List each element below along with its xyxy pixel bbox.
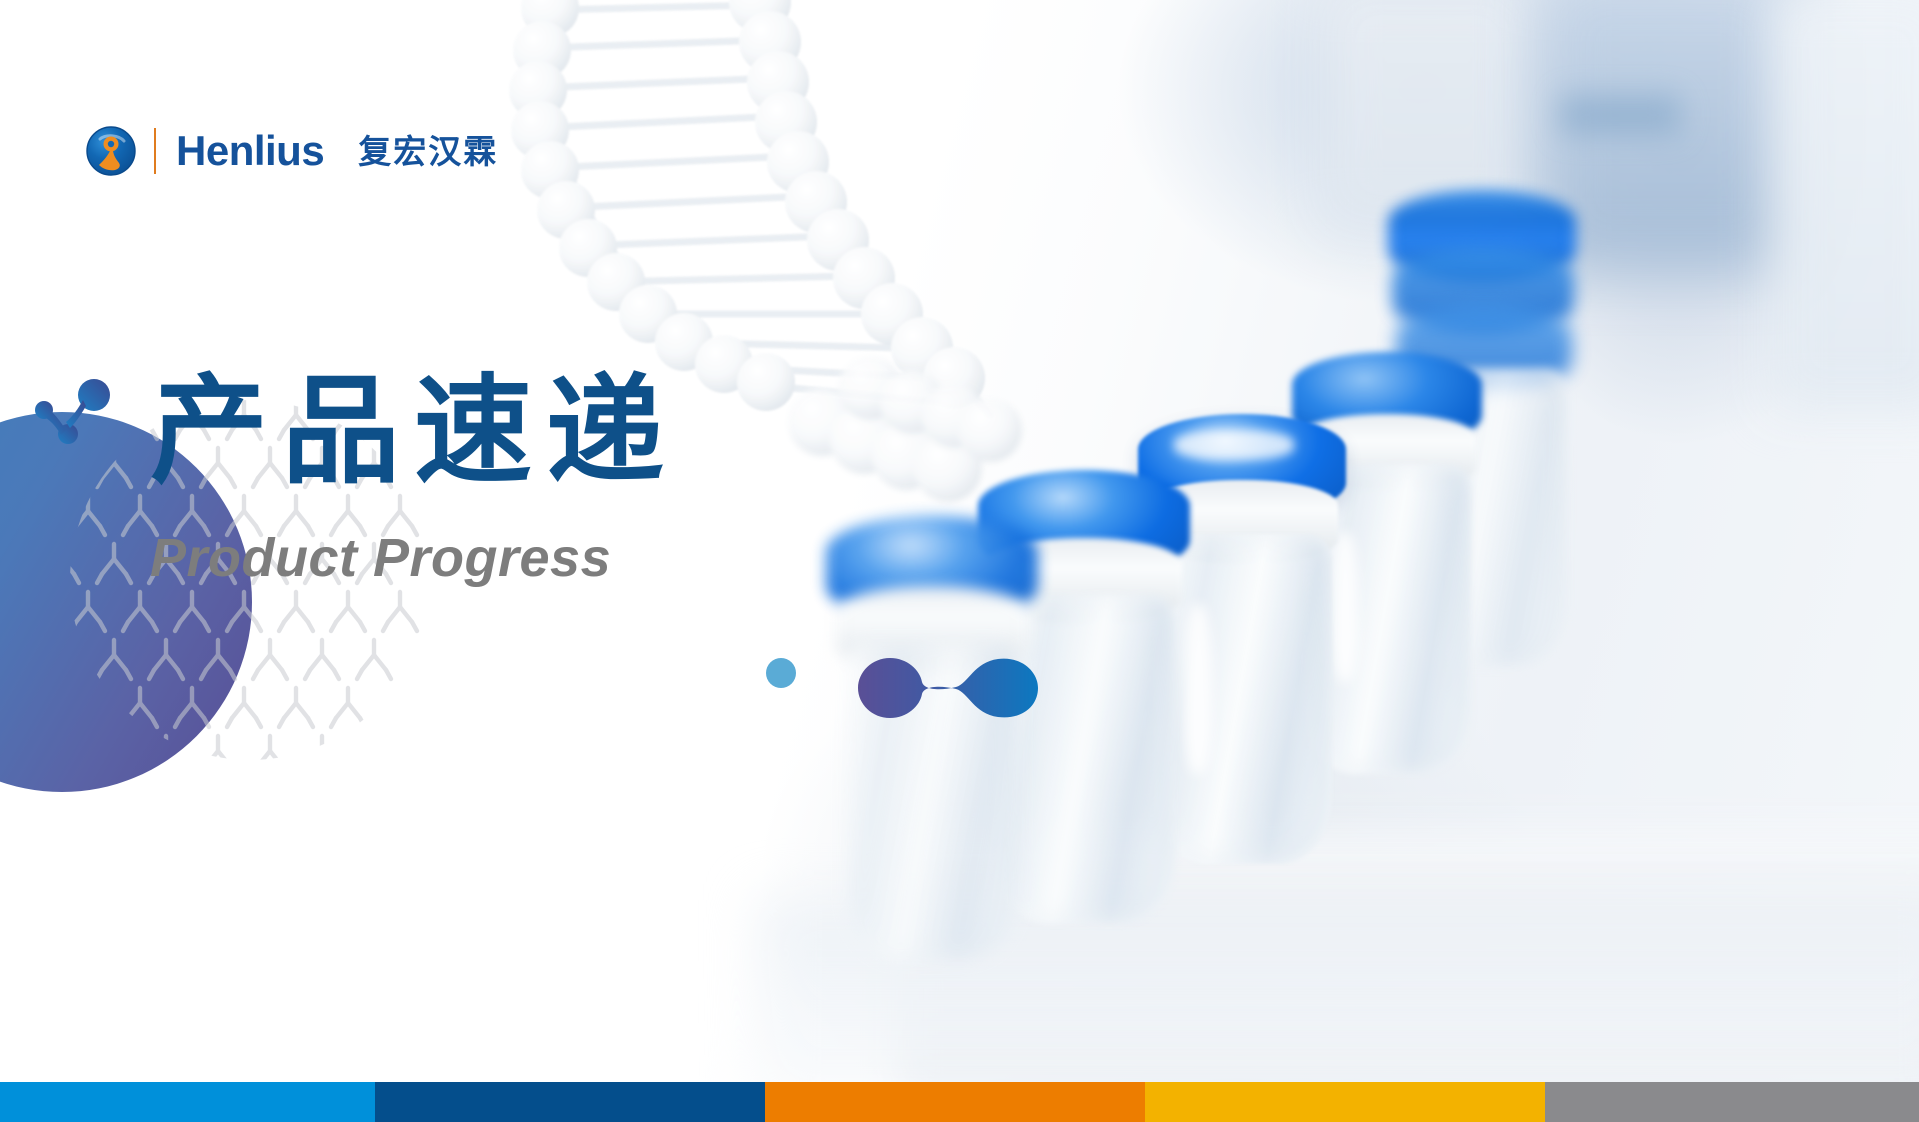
bar-segment-dark-blue <box>375 1082 765 1122</box>
vial-group <box>820 180 1919 900</box>
bar-segment-light-blue <box>0 1082 375 1122</box>
vial-4-glint <box>1332 532 1358 682</box>
logo-chinese-name: 复宏汉霖 <box>358 135 498 168</box>
page-title-chinese: 产品速递 <box>150 372 678 490</box>
bar-segment-orange <box>765 1082 1145 1122</box>
brand-logo[interactable]: Henlius 复宏汉霖 <box>86 126 498 176</box>
logo-divider <box>154 128 156 174</box>
molecule-dumbbell-icon <box>852 650 1042 722</box>
bar-segment-amber <box>1145 1082 1545 1122</box>
vial-3-glint <box>1184 604 1212 774</box>
logo-wordmark: Henlius <box>176 130 324 172</box>
blur-shape-window-c <box>1560 95 1680 135</box>
decorative-dot-light-blue <box>766 658 796 688</box>
vial-3-cap-glint <box>1174 430 1294 460</box>
bottom-color-bar <box>0 1082 1919 1122</box>
slide-root: Henlius 复宏汉霖 产品速递 Product Progress <box>0 0 1919 1122</box>
molecule-icon <box>28 378 118 450</box>
bar-segment-gray <box>1545 1082 1919 1122</box>
henlius-globe-icon <box>86 126 136 176</box>
page-title-english: Product Progress <box>150 527 611 589</box>
